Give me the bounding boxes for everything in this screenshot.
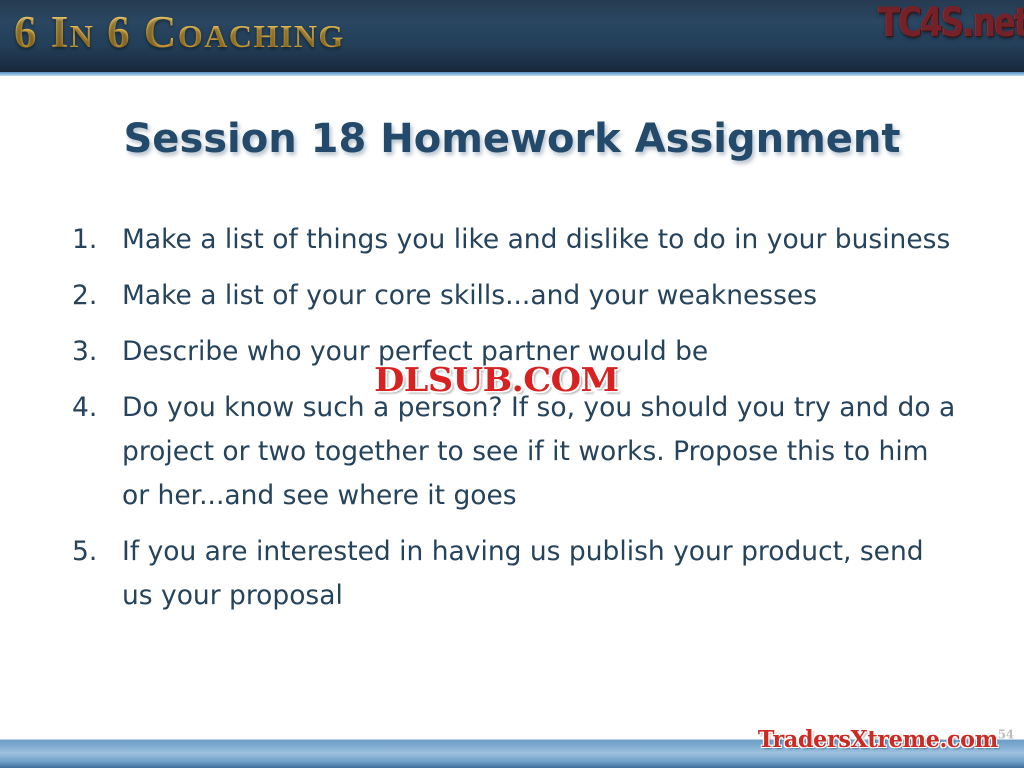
list-item-text: Make a list of your core skills...and yo…: [122, 274, 962, 318]
list-item-number: 3.: [72, 330, 122, 374]
list-item-text: Make a list of things you like and disli…: [122, 218, 962, 262]
tradersxtreme-watermark-superscript: 54: [998, 727, 1014, 741]
list-item-number: 1.: [72, 218, 122, 262]
list-item-text: If you are interested in having us publi…: [122, 530, 962, 618]
list-item: 5. If you are interested in having us pu…: [72, 530, 962, 618]
header-underline-rule: [0, 72, 1024, 76]
tradersxtreme-watermark: TradersXtreme.com54: [758, 726, 1014, 753]
homework-task-list: 1. Make a list of things you like and di…: [72, 218, 962, 630]
list-item: 1. Make a list of things you like and di…: [72, 218, 962, 262]
list-item-number: 5.: [72, 530, 122, 574]
list-item: 4. Do you know such a person? If so, you…: [72, 386, 962, 518]
list-item-number: 4.: [72, 386, 122, 430]
list-item-text: Do you know such a person? If so, you sh…: [122, 386, 962, 518]
brand-logo-6in6-coaching: 6 In 6 Coaching: [14, 6, 345, 58]
slide-canvas: 6 In 6 Coaching TC4S.net Session 18 Home…: [0, 0, 1024, 768]
slide-header-band: 6 In 6 Coaching TC4S.net: [0, 0, 1024, 72]
dlsub-watermark: DLSUB.COM: [374, 360, 619, 399]
tc4s-net-logo: TC4S.net: [878, 0, 1024, 46]
page-title: Session 18 Homework Assignment: [0, 116, 1024, 162]
list-item: 2. Make a list of your core skills...and…: [72, 274, 962, 318]
list-item-number: 2.: [72, 274, 122, 318]
tradersxtreme-watermark-text: TradersXtreme.com: [758, 726, 998, 753]
